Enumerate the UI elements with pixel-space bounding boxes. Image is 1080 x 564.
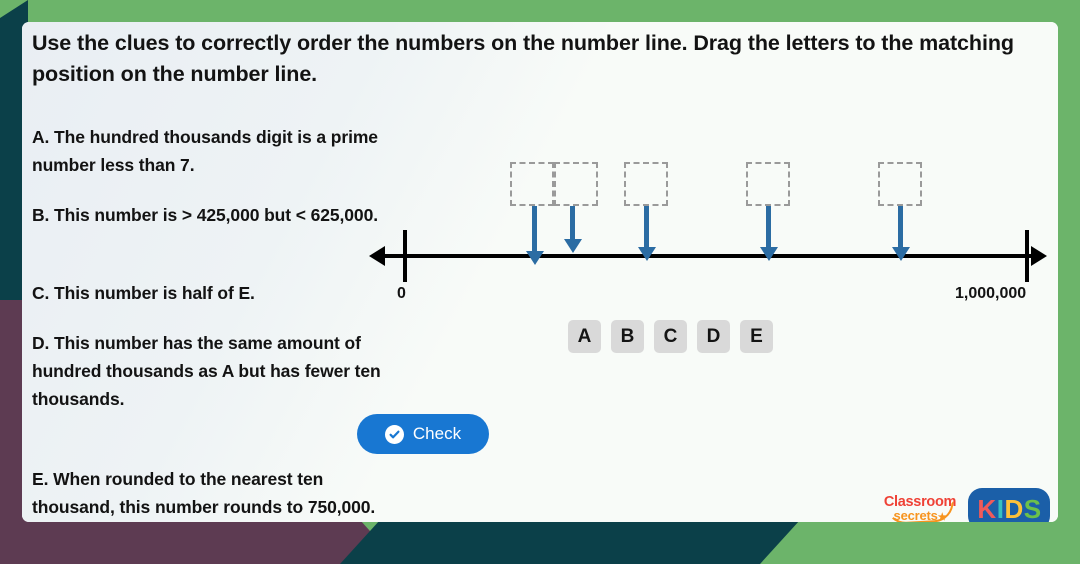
dropzone-5[interactable] (878, 162, 922, 206)
number-line-axis (377, 254, 1037, 258)
number-line-tick-end (1025, 230, 1029, 282)
letter-tile-c[interactable]: C (654, 320, 687, 353)
check-button[interactable]: Check (357, 414, 489, 454)
clue-e: E. When rounded to the nearest ten thous… (32, 465, 394, 521)
slide-stage: Use the clues to correctly order the num… (0, 0, 1080, 564)
number-line-right-arrow-icon (1031, 246, 1047, 266)
classroom-secrets-logo: Classroom secrets★ (880, 492, 960, 522)
kids-badge: K I D S (968, 488, 1050, 522)
dropzone-2-arrow-icon (570, 206, 575, 240)
clue-d: D. This number has the same amount of hu… (32, 329, 394, 413)
dropzone-4-arrow-icon (766, 206, 771, 248)
clue-a: A. The hundred thousands digit is a prim… (32, 123, 394, 179)
number-line: 0 1,000,000 (347, 137, 1047, 317)
kids-letter-s: S (1024, 494, 1041, 523)
kids-letter-d: D (1004, 494, 1022, 523)
dropzone-3[interactable] (624, 162, 668, 206)
number-line-tick-start (403, 230, 407, 282)
dropzone-5-arrow-icon (898, 206, 903, 248)
dropzone-2[interactable] (554, 162, 598, 206)
dropzone-3-arrow-icon (644, 206, 649, 248)
page-title: Use the clues to correctly order the num… (32, 28, 1047, 90)
clue-b: B. This number is > 425,000 but < 625,00… (32, 201, 394, 229)
kids-letter-k: K (977, 494, 995, 523)
dropzone-1[interactable] (510, 162, 554, 206)
activity-card: Use the clues to correctly order the num… (22, 22, 1058, 522)
letter-tile-d[interactable]: D (697, 320, 730, 353)
letter-tile-b[interactable]: B (611, 320, 644, 353)
check-button-label: Check (413, 424, 461, 444)
frame-band-bottom-purple (0, 520, 400, 564)
frame-band-bottom-teal (340, 520, 800, 564)
number-line-label-start: 0 (397, 285, 406, 303)
branding: Classroom secrets★ K I D S (880, 488, 1050, 522)
letter-tile-tray: A B C D E (568, 320, 773, 353)
letter-tile-e[interactable]: E (740, 320, 773, 353)
number-line-label-end: 1,000,000 (955, 285, 1026, 303)
check-circle-icon (385, 425, 404, 444)
logo-swoosh-icon (886, 501, 955, 522)
clue-c: C. This number is half of E. (32, 279, 394, 307)
dropzone-1-arrow-icon (532, 206, 537, 252)
dropzone-4[interactable] (746, 162, 790, 206)
letter-tile-a[interactable]: A (568, 320, 601, 353)
kids-letter-i: I (997, 494, 1004, 523)
